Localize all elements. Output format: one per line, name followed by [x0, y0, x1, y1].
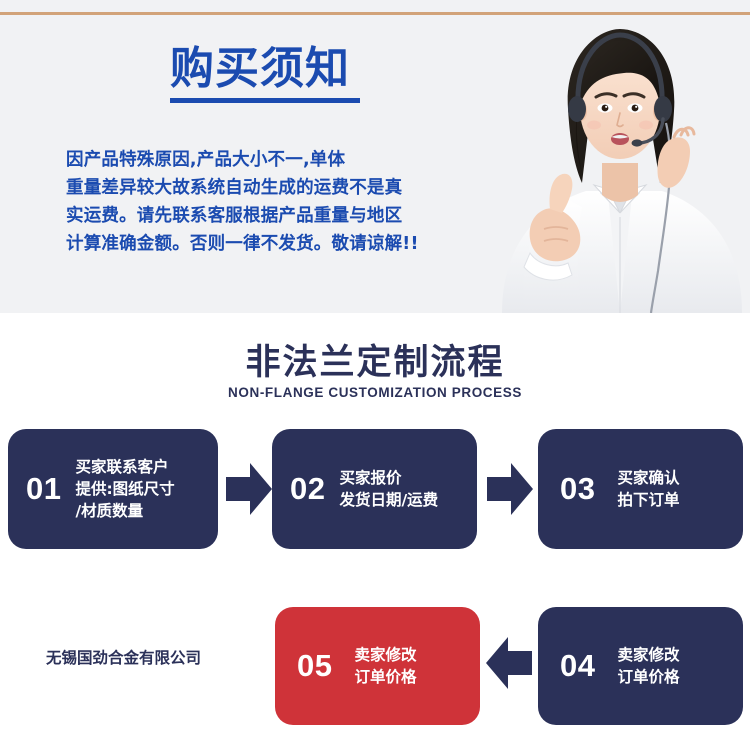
- arrow-right-02-to-03-icon: [487, 461, 533, 517]
- notice-body-text: 因产品特殊原因,产品大小不一,单体 重量差异较大故系统自动生成的运费不是真 实运…: [66, 146, 496, 258]
- process-step-02[interactable]: 02 买家报价 发货日期/运费: [272, 429, 477, 549]
- page-root: 购买须知 因产品特殊原因,产品大小不一,单体 重量差异较大故系统自动生成的运费不…: [0, 0, 750, 740]
- process-step-01-line-3: /材质数量: [75, 502, 143, 520]
- process-heading: 非法兰定制流程: [0, 334, 750, 385]
- process-step-03-line-1: 买家确认: [617, 469, 679, 487]
- process-step-03-text: 买家确认 拍下订单: [617, 467, 679, 511]
- process-step-01-text: 买家联系客户 提供:图纸尺寸 /材质数量: [75, 456, 174, 522]
- process-step-03-number: 03: [560, 471, 595, 507]
- process-step-02-text: 买家报价 发货日期/运费: [339, 467, 438, 511]
- notice-body-line-1: 因产品特殊原因,产品大小不一,单体: [66, 146, 496, 174]
- process-step-04-line-2: 订单价格: [617, 668, 679, 686]
- arrow-right-01-to-02-icon: [226, 461, 272, 517]
- process-step-05-line-2: 订单价格: [354, 668, 416, 686]
- process-step-05[interactable]: 05 卖家修改 订单价格: [275, 607, 480, 725]
- process-step-03[interactable]: 03 买家确认 拍下订单: [538, 429, 743, 549]
- process-step-05-number: 05: [297, 648, 332, 684]
- process-step-05-text: 卖家修改 订单价格: [354, 644, 416, 688]
- notice-title-underline: [170, 98, 360, 103]
- process-step-02-line-2: 发货日期/运费: [339, 491, 438, 509]
- customization-process-section: 非法兰定制流程 NON-FLANGE CUSTOMIZATION PROCESS…: [0, 313, 750, 740]
- notice-title-block: 购买须知: [170, 46, 470, 103]
- notice-title: 购买须知: [170, 46, 470, 92]
- process-step-01-number: 01: [26, 471, 61, 507]
- process-step-01[interactable]: 01 买家联系客户 提供:图纸尺寸 /材质数量: [8, 429, 218, 549]
- process-step-01-line-2: 提供:图纸尺寸: [75, 480, 174, 498]
- purchase-notice-section: 购买须知 因产品特殊原因,产品大小不一,单体 重量差异较大故系统自动生成的运费不…: [0, 0, 750, 313]
- process-step-02-line-1: 买家报价: [339, 469, 401, 487]
- process-step-04-number: 04: [560, 648, 595, 684]
- notice-body-line-4: 计算准确金额。否则一律不发货。敬请谅解!!: [66, 230, 496, 258]
- process-step-05-line-1: 卖家修改: [354, 646, 416, 664]
- notice-body-line-3: 实运费。请先联系客服根据产品重量与地区: [66, 202, 496, 230]
- process-step-01-line-1: 买家联系客户: [75, 458, 168, 476]
- company-name: 无锡国劲合金有限公司: [46, 647, 236, 670]
- arrow-left-04-to-05-icon: [486, 635, 532, 691]
- process-step-04[interactable]: 04 卖家修改 订单价格: [538, 607, 743, 725]
- notice-body-line-2: 重量差异较大故系统自动生成的运费不是真: [66, 174, 496, 202]
- process-step-03-line-2: 拍下订单: [617, 491, 679, 509]
- process-step-04-line-1: 卖家修改: [617, 646, 679, 664]
- process-subheading: NON-FLANGE CUSTOMIZATION PROCESS: [0, 385, 750, 400]
- process-step-02-number: 02: [290, 471, 325, 507]
- customer-service-agent-photo: [490, 13, 750, 313]
- process-step-04-text: 卖家修改 订单价格: [617, 644, 679, 688]
